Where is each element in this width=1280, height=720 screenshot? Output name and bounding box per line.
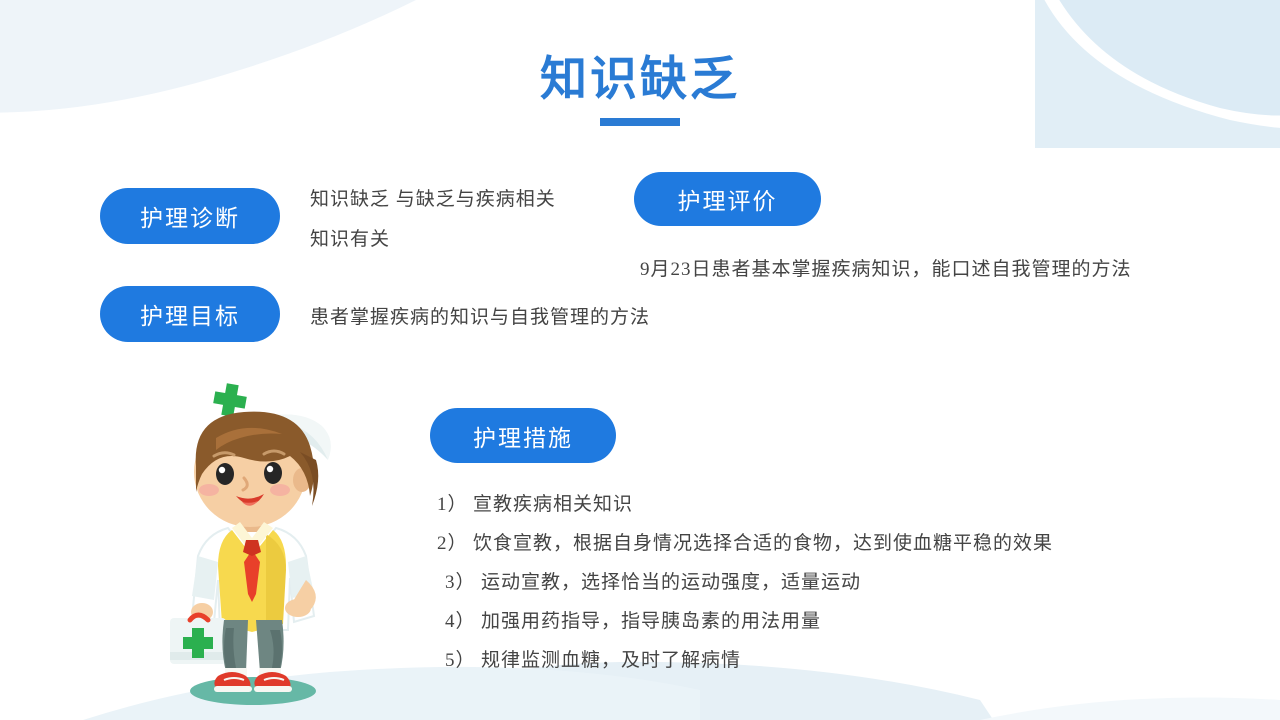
- eye-left: [216, 463, 234, 485]
- title-block: 知识缺乏: [0, 52, 1280, 126]
- cheek-right: [270, 484, 290, 496]
- cartoon-boy-doctor-illustration: [140, 380, 365, 710]
- hand-right: [285, 599, 311, 617]
- badge-nursing-measures[interactable]: 护理措施: [430, 408, 616, 463]
- badge-nursing-evaluation[interactable]: 护理评价: [634, 172, 821, 226]
- shoe-right-sole: [254, 686, 292, 692]
- ground-ellipse: [190, 677, 316, 705]
- list-item-number: 5）: [445, 641, 481, 680]
- list-item-label: 宣教疾病相关知识: [473, 485, 633, 524]
- badge-nursing-goal[interactable]: 护理目标: [100, 286, 280, 342]
- eye-right: [264, 462, 282, 484]
- title-underline-rule: [600, 118, 680, 126]
- text-nursing-evaluation: 9月23日患者基本掌握疾病知识，能口述自我管理的方法: [640, 250, 1200, 290]
- badge-nursing-diagnosis[interactable]: 护理诊断: [100, 188, 280, 244]
- list-item-number: 4）: [445, 602, 481, 641]
- eye-right-highlight: [267, 466, 273, 472]
- list-item-label: 加强用药指导，指导胰岛素的用法用量: [481, 602, 821, 641]
- list-item: 3） 运动宣教，选择恰当的运动强度，适量运动: [445, 563, 1197, 602]
- decor-sliver-bottom-right: [980, 698, 1280, 720]
- nursing-measures-list: 1） 宣教疾病相关知识 2） 饮食宣教，根据自身情况选择合适的食物，达到使血糖平…: [437, 485, 1197, 680]
- lab-coat-sleeve-left: [192, 556, 218, 600]
- list-item-number: 3）: [445, 563, 481, 602]
- eye-left-highlight: [219, 467, 225, 473]
- shoe-left-sole: [214, 686, 252, 692]
- list-item: 1） 宣教疾病相关知识: [437, 485, 1197, 524]
- text-nursing-diagnosis: 知识缺乏 与缺乏与疾病相关 知识有关: [310, 180, 630, 260]
- text-nursing-goal: 患者掌握疾病的知识与自我管理的方法: [310, 298, 730, 338]
- list-item: 4） 加强用药指导，指导胰岛素的用法用量: [445, 602, 1197, 641]
- slide-canvas: 知识缺乏 护理诊断 知识缺乏 与缺乏与疾病相关 知识有关 护理目标 患者掌握疾病…: [0, 0, 1280, 720]
- list-item-label: 规律监测血糖，及时了解病情: [481, 641, 741, 680]
- list-item-number: 2）: [437, 524, 473, 563]
- list-item-label: 运动宣教，选择恰当的运动强度，适量运动: [481, 563, 861, 602]
- list-item: 5） 规律监测血糖，及时了解病情: [445, 641, 1197, 680]
- list-item-label: 饮食宣教，根据自身情况选择合适的食物，达到使血糖平稳的效果: [473, 524, 1053, 563]
- cheek-left: [199, 484, 219, 496]
- list-item: 2） 饮食宣教，根据自身情况选择合适的食物，达到使血糖平稳的效果: [437, 524, 1197, 563]
- list-item-number: 1）: [437, 485, 473, 524]
- page-title: 知识缺乏: [0, 52, 1280, 106]
